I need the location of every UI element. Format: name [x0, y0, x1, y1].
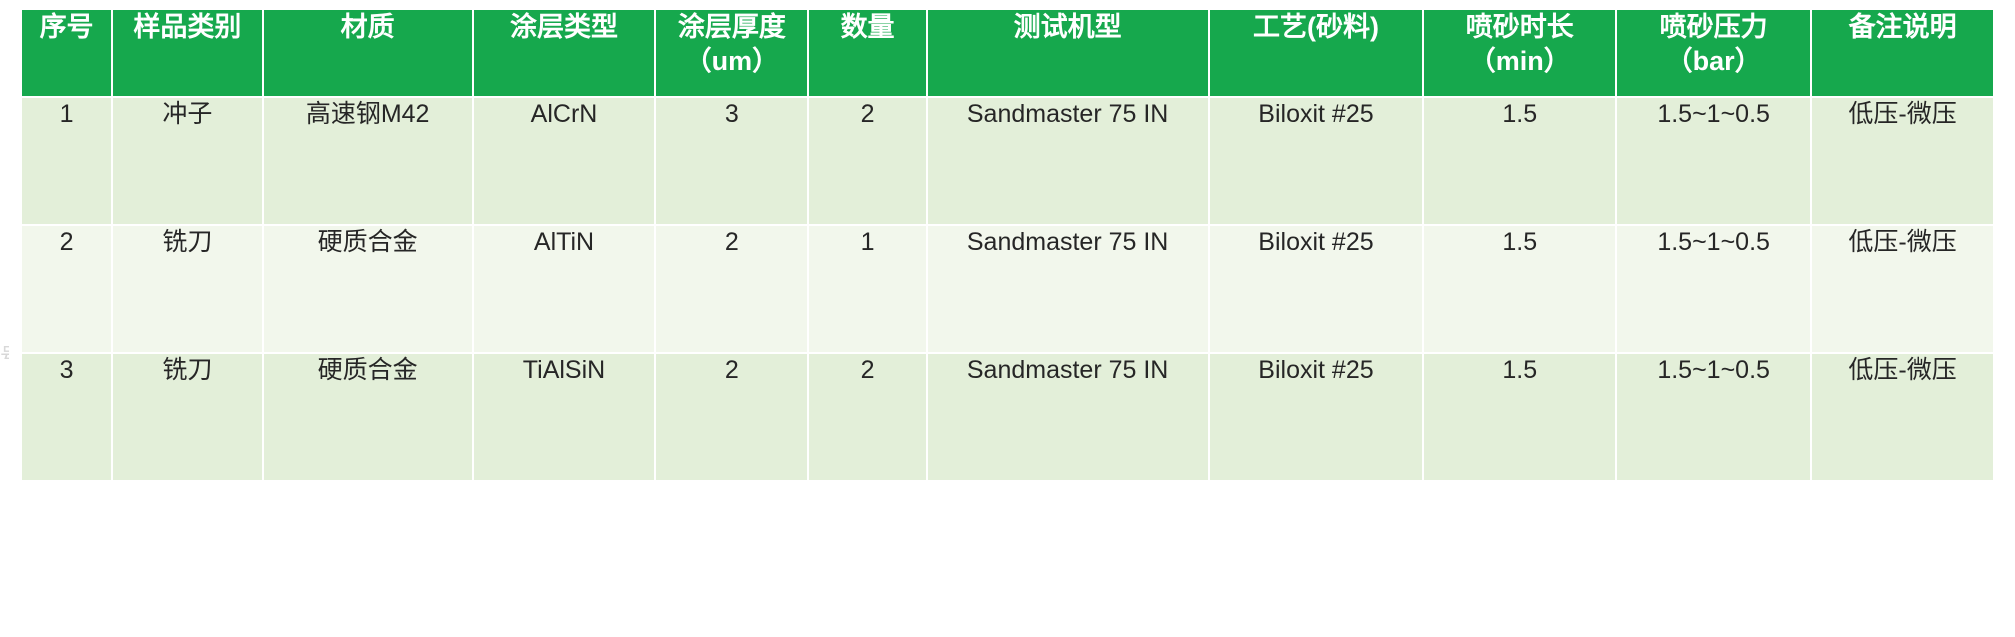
cell-coating-thickness: 2: [656, 226, 807, 352]
cell-blast-pressure: 1.5~1~0.5: [1617, 98, 1810, 224]
cell-remarks: 低压-微压: [1812, 354, 1993, 480]
cell-material: 硬质合金: [264, 226, 472, 352]
cell-sample-category: 铣刀: [113, 226, 262, 352]
cell-coating-thickness: 2: [656, 354, 807, 480]
cell-no: 3: [22, 354, 111, 480]
sample-blasting-parameters-table: 序号 样品类别 材质 涂层类型 涂层厚度 （um） 数量 测试机型 工艺(砂料)…: [20, 8, 1995, 628]
cell-material: 高速钢M42: [264, 98, 472, 224]
cell-coating-type: AlCrN: [474, 98, 655, 224]
cell-test-machine: Sandmaster 75 IN: [928, 354, 1208, 480]
cell-test-machine: Sandmaster 75 IN: [928, 226, 1208, 352]
cell-quantity: 1: [809, 226, 925, 352]
column-header-remarks[interactable]: 备注说明: [1812, 10, 1993, 96]
cell-no: 2: [22, 226, 111, 352]
cell-blast-time: 1.5: [1424, 354, 1615, 480]
column-header-material[interactable]: 材质: [264, 10, 472, 96]
cell-no: 1: [22, 98, 111, 224]
page-root: 号 明 序号 样品类别 材质 涂层类型 涂层厚度 （um） 数量 测试机型 工艺…: [0, 0, 2015, 637]
table-row[interactable]: 1 冲子 高速钢M42 AlCrN 3 2 Sandmaster 75 IN B…: [22, 98, 1993, 224]
cell-sample-category: 铣刀: [113, 354, 262, 480]
cell-quantity: 2: [809, 98, 925, 224]
cell-material: 硬质合金: [264, 354, 472, 480]
cell-blast-pressure: 1.5~1~0.5: [1617, 354, 1810, 480]
table-row[interactable]: 2 铣刀 硬质合金 AlTiN 2 1 Sandmaster 75 IN Bil…: [22, 226, 1993, 352]
column-header-test-machine[interactable]: 测试机型: [928, 10, 1208, 96]
cell-process-media: Biloxit #25: [1210, 354, 1423, 480]
cell-process-media: Biloxit #25: [1210, 226, 1423, 352]
cell-blast-time: 1.5: [1424, 98, 1615, 224]
column-header-blast-time[interactable]: 喷砂时长 （min）: [1424, 10, 1615, 96]
column-header-quantity[interactable]: 数量: [809, 10, 925, 96]
header-row: 序号 样品类别 材质 涂层类型 涂层厚度 （um） 数量 测试机型 工艺(砂料)…: [22, 10, 1993, 96]
cell-coating-thickness: 3: [656, 98, 807, 224]
column-header-coating-type[interactable]: 涂层类型: [474, 10, 655, 96]
left-edge-clipped-text: 号 明: [0, 346, 9, 390]
column-header-coating-thickness[interactable]: 涂层厚度 （um）: [656, 10, 807, 96]
cell-blast-time: 1.5: [1424, 226, 1615, 352]
cell-remarks: 低压-微压: [1812, 98, 1993, 224]
cell-blast-pressure: 1.5~1~0.5: [1617, 226, 1810, 352]
table-body: 1 冲子 高速钢M42 AlCrN 3 2 Sandmaster 75 IN B…: [22, 98, 1993, 480]
cell-coating-type: AlTiN: [474, 226, 655, 352]
cell-test-machine: Sandmaster 75 IN: [928, 98, 1208, 224]
cell-quantity: 2: [809, 354, 925, 480]
column-header-blast-pressure[interactable]: 喷砂压力 （bar）: [1617, 10, 1810, 96]
table-header: 序号 样品类别 材质 涂层类型 涂层厚度 （um） 数量 测试机型 工艺(砂料)…: [22, 10, 1993, 96]
column-header-no[interactable]: 序号: [22, 10, 111, 96]
cell-sample-category: 冲子: [113, 98, 262, 224]
cell-coating-type: TiAlSiN: [474, 354, 655, 480]
column-header-sample-category[interactable]: 样品类别: [113, 10, 262, 96]
column-header-process-media[interactable]: 工艺(砂料): [1210, 10, 1423, 96]
table-row[interactable]: 3 铣刀 硬质合金 TiAlSiN 2 2 Sandmaster 75 IN B…: [22, 354, 1993, 480]
cell-process-media: Biloxit #25: [1210, 98, 1423, 224]
data-table: 序号 样品类别 材质 涂层类型 涂层厚度 （um） 数量 测试机型 工艺(砂料)…: [20, 8, 1995, 482]
cell-remarks: 低压-微压: [1812, 226, 1993, 352]
